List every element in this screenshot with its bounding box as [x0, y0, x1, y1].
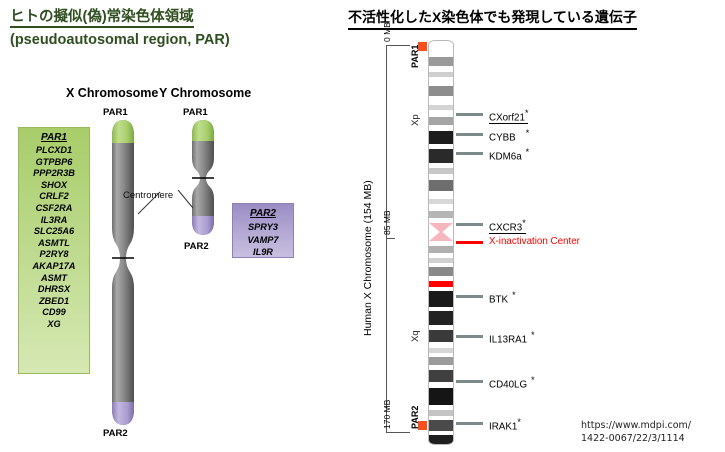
band: [429, 330, 453, 342]
band: [429, 57, 453, 66]
y-par1-region: [192, 120, 214, 141]
gene-label: IRAK1*: [489, 417, 521, 432]
centromere-label: Centromere: [123, 190, 173, 201]
par1-bracket: [395, 45, 410, 46]
par1-gene: SHOX: [19, 180, 89, 192]
band: [429, 149, 453, 163]
left-title-line1: ヒトの擬似(偽)常染色体領域: [10, 8, 194, 28]
asterisk: *: [531, 330, 535, 340]
par1-gene: GTPBP6: [19, 157, 89, 169]
arm-label-xq: Xq: [410, 330, 421, 342]
callout-line: [456, 295, 483, 298]
left-title-line2: (pseudoautosomal region, PAR): [10, 31, 340, 49]
par1-gene: CSF2RA: [19, 203, 89, 215]
x-par2-tag: PAR2: [103, 428, 128, 439]
gene-label: BTK*: [489, 290, 516, 305]
par1-gene: AKAP17A: [19, 261, 89, 273]
band: [429, 357, 453, 365]
callout-line: [456, 113, 483, 116]
ideogram-body: [428, 40, 454, 445]
x-ideogram-panel: 0 MB 85 MB 170 MB Human X Chromosome (15…: [352, 36, 725, 452]
asterisk: *: [526, 128, 530, 138]
gene-label: CXCR3*: [489, 218, 526, 234]
band: [429, 258, 453, 263]
band: [429, 410, 453, 416]
asterisk: *: [525, 108, 529, 118]
band: [429, 370, 453, 382]
asterisk: *: [512, 290, 516, 300]
band: [429, 199, 453, 204]
x-par2-region: [112, 402, 134, 425]
band: [429, 267, 453, 276]
par1-gene: CD99: [19, 307, 89, 319]
arm-label-xp: Xp: [410, 114, 421, 126]
band: [429, 211, 453, 218]
par1-gene: SLC25A6: [19, 226, 89, 238]
par1-box-title: PAR1: [19, 132, 89, 143]
x-par1-tag: PAR1: [103, 107, 128, 118]
xic-band: [429, 281, 453, 287]
y-par1-tag: PAR1: [183, 107, 208, 118]
x-chromosome-ideogram: [428, 40, 454, 452]
par1-marker: [418, 42, 427, 51]
callout-line: [456, 152, 483, 155]
par1-gene: DHRSX: [19, 284, 89, 296]
band: [429, 348, 453, 353]
par2-gene: IL9R: [233, 246, 293, 259]
par1-gene: PPP2R3B: [19, 168, 89, 180]
band: [429, 291, 453, 307]
source-url: https://www.mdpi.com/ 1422-0067/22/3/111…: [581, 419, 691, 445]
par2-marker: [418, 421, 427, 430]
callout-line: [456, 380, 483, 383]
axis-title: Human X Chromosome (154 MB): [362, 180, 374, 336]
band: [429, 420, 453, 431]
axis-tick-label-170: 170 MB: [382, 400, 392, 429]
gene-label: CXorf21*: [489, 108, 528, 124]
par1-gene: XG: [19, 319, 89, 331]
par1-gene: ZBED1: [19, 296, 89, 308]
par1-gene: ASMTL: [19, 238, 89, 250]
band: [429, 105, 453, 110]
band: [429, 180, 453, 191]
par2-box-title: PAR2: [233, 208, 293, 219]
x-chromosome-body: [112, 120, 134, 425]
gene-label: IL13RA1*: [489, 330, 535, 345]
callout-line: [456, 223, 483, 226]
left-panel-title: ヒトの擬似(偽)常染色体領域 (pseudoautosomal region, …: [10, 8, 340, 49]
band: [429, 246, 453, 253]
callout-line: [456, 335, 483, 338]
source-url-line2: 1422-0067/22/3/1114: [581, 432, 691, 445]
band: [429, 168, 453, 174]
callout-line: [456, 241, 483, 244]
figure-root: ヒトの擬似(偽)常染色体領域 (pseudoautosomal region, …: [0, 0, 725, 452]
callout-line: [456, 422, 483, 425]
source-url-line1: https://www.mdpi.com/: [581, 419, 691, 432]
par2-gene: SPRY3: [233, 221, 293, 234]
par1-gene-box: PAR1 PLCXD1 GTPBP6 PPP2R3B SHOX CRLF2 CS…: [18, 127, 90, 374]
band: [429, 131, 453, 144]
band: [429, 117, 453, 125]
band: [429, 86, 453, 96]
par1-gene: IL3RA: [19, 215, 89, 227]
band: [429, 435, 453, 445]
asterisk: *: [517, 417, 521, 427]
asterisk: *: [522, 218, 526, 228]
axis-tick-170: [386, 432, 395, 433]
callout-line: [456, 133, 483, 136]
asterisk: *: [526, 147, 530, 157]
gene-label: CD40LG*: [489, 375, 535, 390]
par1-gene: CRLF2: [19, 191, 89, 203]
axis-tick-85: [386, 238, 395, 239]
axis-tick-0: [386, 45, 395, 46]
axis-tick-label-85: 85 MB: [382, 210, 392, 235]
par1-gene: P2RY8: [19, 249, 89, 261]
par2-gene-box: PAR2 SPRY3 VAMP7 IL9R: [232, 203, 294, 258]
x-chromosome-diagram: [112, 120, 134, 425]
y-chromosome-heading: Y Chromosome: [159, 86, 251, 100]
par2-bracket: [395, 432, 410, 433]
gene-label: KDM6a*: [489, 147, 529, 162]
centromere-band: [429, 223, 453, 241]
par1-gene: ASMT: [19, 273, 89, 285]
asterisk: *: [531, 375, 535, 385]
x-par1-region: [112, 120, 134, 143]
band: [429, 388, 453, 405]
band: [429, 72, 453, 77]
xic-label: X-inactivation Center: [489, 236, 580, 247]
gene-label: CYBB*: [489, 128, 529, 143]
par1-gene: PLCXD1: [19, 145, 89, 157]
par2-gene: VAMP7: [233, 234, 293, 247]
x-chromosome-heading: X Chromosome: [66, 86, 158, 100]
axis-tick-label-0: 0 MB: [382, 22, 392, 42]
band: [429, 311, 453, 325]
